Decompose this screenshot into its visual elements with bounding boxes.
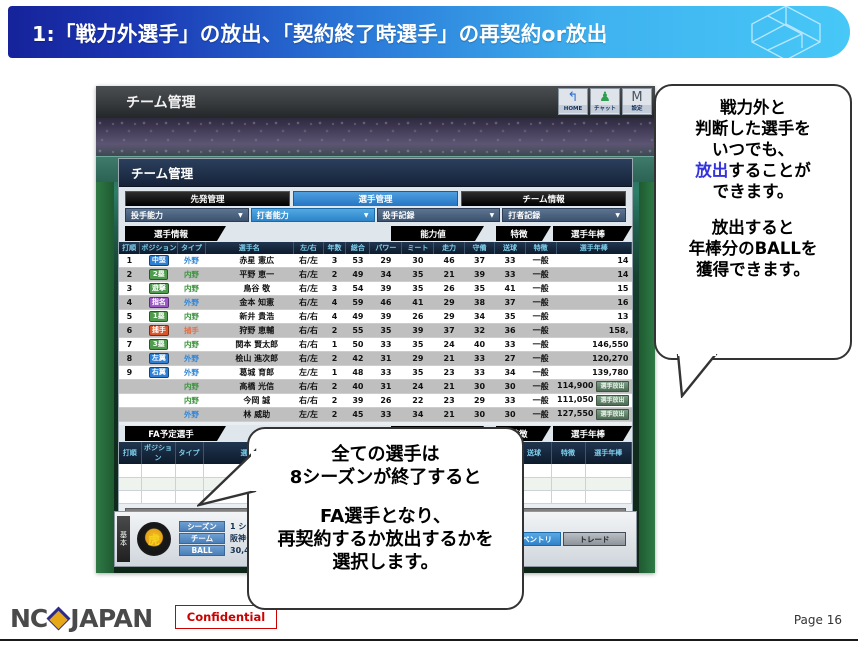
cell-meet: 35: [402, 268, 434, 282]
cell-order: [119, 380, 140, 394]
cell-throw: 33: [495, 254, 525, 268]
cell-years: 2: [323, 408, 346, 422]
cell-total: 40: [346, 380, 370, 394]
cell-power: 33: [370, 408, 402, 422]
position-badge: 右翼: [149, 367, 169, 378]
cell-years: 2: [323, 394, 346, 408]
release-player-button[interactable]: 選手放出: [596, 381, 628, 392]
roster-body: 1中堅外野赤星 憲広右/左3532930463733一般1422塁内野平野 恵一…: [119, 254, 632, 422]
cell-salary: 15: [556, 282, 631, 296]
cell-type: 外野: [178, 352, 205, 366]
cell-salary: 139,780: [556, 366, 631, 380]
team-logo: [137, 522, 171, 556]
position-badge: 1塁: [149, 311, 168, 322]
cell-meet: 35: [402, 282, 434, 296]
col-run: 走力: [434, 242, 464, 254]
chevron-down-icon: ▼: [490, 212, 495, 219]
fa-col-order: 打順: [119, 442, 141, 464]
salary-value: 15: [617, 284, 628, 293]
cell-type: 外野: [178, 408, 205, 422]
season-key: シーズン: [179, 521, 225, 532]
cell-years: 1: [323, 338, 346, 352]
table-row[interactable]: 9右翼外野葛城 育郎左/左1483335233334一般139,780: [119, 366, 632, 380]
page-number: Page 16: [794, 613, 842, 627]
cell-type: 内野: [178, 268, 205, 282]
home-label: HOME: [559, 105, 587, 113]
cell-meet: 29: [402, 352, 434, 366]
cell-hand: 右/右: [294, 394, 324, 408]
cell-throw: 41: [495, 282, 525, 296]
table-row[interactable]: 51塁内野新井 貴浩右/右4493926293435一般13: [119, 310, 632, 324]
tab-starters[interactable]: 先発管理: [125, 191, 290, 206]
callout-right-line-7: 年棒分のBALLを: [662, 238, 844, 259]
salary-value: 13: [617, 312, 628, 321]
salary-value: 14: [617, 256, 628, 265]
position-badge: 左翼: [149, 353, 169, 364]
cell-run: 21: [434, 352, 464, 366]
cell-field: 30: [464, 380, 494, 394]
callout-right-spacer: [662, 203, 844, 217]
cell-trait: 一般: [525, 394, 556, 408]
cell-hand: 右/左: [294, 268, 324, 282]
cell-run: 21: [434, 268, 464, 282]
chevron-down-icon: ▼: [364, 212, 369, 219]
cell-trait: 一般: [525, 324, 556, 338]
cell-salary: 13: [556, 310, 631, 324]
cell-hand: 右/右: [294, 310, 324, 324]
cell-run: 29: [434, 296, 464, 310]
cell-position: 中堅: [140, 254, 178, 268]
settings-button[interactable]: M 設定: [622, 88, 652, 115]
cell-total: 54: [346, 282, 370, 296]
table-row[interactable]: 外野林 威助左/左2453334213030一般127,550選手放出: [119, 408, 632, 422]
cell-order: 9: [119, 366, 140, 380]
release-player-button[interactable]: 選手放出: [596, 395, 628, 406]
table-row[interactable]: 6捕手捕手狩野 恵輔右/右2553539373236一般158,: [119, 324, 632, 338]
crowd-texture: [96, 118, 655, 158]
main-tabs: 先発管理 選手管理 チーム情報: [119, 187, 632, 206]
sub-tabs: 投手能力 ▼ 打者能力 ▼ 投手記録 ▼ 打者記録 ▼: [119, 206, 632, 225]
section-salary: 選手年棒: [553, 226, 623, 241]
cell-position: 1塁: [140, 310, 178, 324]
cell-throw: 34: [495, 366, 525, 380]
cell-hand: 右/左: [294, 282, 324, 296]
callout-right-line-2: 判断した選手を: [662, 118, 844, 139]
cell-order: 7: [119, 338, 140, 352]
cell-hand: 右/右: [294, 380, 324, 394]
cell-type: 外野: [178, 254, 205, 268]
chat-label: チャット: [591, 105, 619, 113]
cell-total: 53: [346, 254, 370, 268]
cell-hand: 右/右: [294, 324, 324, 338]
cell-order: 3: [119, 282, 140, 296]
cell-salary: 14: [556, 254, 631, 268]
top-icon-group: ↰ HOME ♟ チャット M 設定: [558, 88, 652, 115]
cell-power: 33: [370, 338, 402, 352]
callout-right-tail: [676, 354, 732, 398]
section-fa-players: FA予定選手: [125, 426, 217, 441]
col-name: 選手名: [205, 242, 294, 254]
cell-salary: 114,900選手放出: [556, 380, 631, 394]
callout-fa-explanation: 全ての選手は 8シーズンが終了すると FA選手となり、 再契約するか放出するかを…: [247, 427, 524, 610]
game-window-titlebar: チーム管理 ↰ HOME ♟ チャット M 設定: [96, 86, 655, 118]
cell-trait: 一般: [525, 338, 556, 352]
cell-meet: 35: [402, 366, 434, 380]
trade-button[interactable]: トレード: [563, 532, 626, 546]
cell-run: 21: [434, 380, 464, 394]
subtab-pitcher-ability[interactable]: 投手能力 ▼: [125, 208, 249, 222]
cell-salary: 14: [556, 268, 631, 282]
col-position: ポジション: [140, 242, 178, 254]
cell-field: 29: [464, 394, 494, 408]
position-badge: 遊撃: [149, 283, 169, 294]
cell-order: 8: [119, 352, 140, 366]
logo-japan-text: JAPAN: [70, 604, 152, 633]
fa-col-trait: 特徴: [551, 442, 585, 464]
callout-right-line-3: いつでも、: [662, 139, 844, 160]
cell-meet: 30: [402, 254, 434, 268]
cell-run: 23: [434, 394, 464, 408]
cell-position: 指名: [140, 296, 178, 310]
nc-japan-logo: NC JAPAN: [10, 604, 153, 633]
callout-right-line-8: 獲得できます。: [662, 259, 844, 280]
cell-throw: 37: [495, 296, 525, 310]
cell-type: 内野: [178, 282, 205, 296]
cell-trait: 一般: [525, 310, 556, 324]
cell-order: [119, 394, 140, 408]
cell-position: [140, 380, 178, 394]
cell-type: 内野: [178, 394, 205, 408]
cell-type: 捕手: [178, 324, 205, 338]
cell-years: 2: [323, 324, 346, 338]
cell-field: 30: [464, 408, 494, 422]
callout-right-line-4: 放出することが: [662, 160, 844, 181]
cell-total: 49: [346, 310, 370, 324]
table-row[interactable]: 8左翼外野桧山 進次郎右/左2423129213327一般120,270: [119, 352, 632, 366]
cell-years: 2: [323, 268, 346, 282]
cell-power: 34: [370, 268, 402, 282]
cell-field: 33: [464, 352, 494, 366]
table-row[interactable]: 内野髙橋 光信右/右2403124213030一般114,900選手放出: [119, 380, 632, 394]
cell-field: 39: [464, 268, 494, 282]
subtab-batter-ability[interactable]: 打者能力 ▼: [251, 208, 375, 222]
fa-empty-cell: [551, 477, 585, 490]
callout-bottom-line-5: 選択します。: [257, 551, 514, 574]
col-trait: 特徴: [525, 242, 556, 254]
cell-name: 関本 賢太郎: [205, 338, 294, 352]
cell-total: 50: [346, 338, 370, 352]
cell-throw: 33: [495, 394, 525, 408]
salary-value: 158,: [609, 326, 629, 335]
subtab-pitcher-ability-label: 投手能力: [131, 210, 163, 221]
settings-icon: M: [631, 89, 642, 105]
cell-hand: 右/左: [294, 254, 324, 268]
cell-run: 37: [434, 324, 464, 338]
cell-salary: 146,550: [556, 338, 631, 352]
cell-throw: 33: [495, 268, 525, 282]
cell-meet: 24: [402, 380, 434, 394]
cell-position: 左翼: [140, 352, 178, 366]
fa-col-salary: 選手年棒: [585, 442, 632, 464]
callout-right-line-1: 戦力外と: [662, 97, 844, 118]
cell-run: 23: [434, 366, 464, 380]
section-label-bar: 選手情報 能力値 特徴 選手年棒: [119, 225, 632, 242]
cell-total: 45: [346, 408, 370, 422]
game-window-title: チーム管理: [126, 92, 196, 112]
cell-hand: 右/左: [294, 296, 324, 310]
cell-field: 38: [464, 296, 494, 310]
fa-empty-cell: [551, 464, 585, 477]
salary-value: 14: [617, 270, 628, 279]
subtab-batter-record[interactable]: 打者記録 ▼: [502, 208, 626, 222]
section-trait: 特徴: [496, 226, 542, 241]
col-years: 年数: [323, 242, 346, 254]
callout-right-line-5: できます。: [662, 181, 844, 202]
callout-release-players: 戦力外と 判断した選手を いつでも、 放出することが できます。 放出すると 年…: [654, 84, 852, 360]
table-row[interactable]: 1中堅外野赤星 憲広右/左3532930463733一般14: [119, 254, 632, 268]
cell-order: [119, 408, 140, 422]
cell-name: 金本 知憲: [205, 296, 294, 310]
cell-throw: 33: [495, 338, 525, 352]
ball-key: BALL: [179, 545, 225, 556]
cell-order: 2: [119, 268, 140, 282]
cell-meet: 34: [402, 408, 434, 422]
cell-trait: 一般: [525, 366, 556, 380]
cell-position: 右翼: [140, 366, 178, 380]
fa-empty-cell: [585, 477, 632, 490]
fa-empty-cell: [551, 490, 585, 503]
cell-trait: 一般: [525, 282, 556, 296]
cell-position: 遊撃: [140, 282, 178, 296]
cell-power: 31: [370, 380, 402, 394]
cell-position: 2塁: [140, 268, 178, 282]
cell-hand: 左/左: [294, 408, 324, 422]
cell-total: 39: [346, 394, 370, 408]
cell-hand: 右/左: [294, 352, 324, 366]
cell-throw: 27: [495, 352, 525, 366]
callout-highlight-word: 放出: [695, 161, 728, 180]
cell-power: 39: [370, 282, 402, 296]
callout-right-line-6: 放出すると: [662, 217, 844, 238]
col-type: タイプ: [178, 242, 205, 254]
fa-empty-cell: [119, 490, 141, 503]
table-row[interactable]: 73塁内野関本 賢太郎右/右1503335244033一般146,550: [119, 338, 632, 352]
cell-salary: 127,550選手放出: [556, 408, 631, 422]
position-badge: 2塁: [149, 269, 168, 280]
release-player-button[interactable]: 選手放出: [596, 409, 628, 420]
fa-empty-cell: [141, 464, 175, 477]
cell-hand: 右/右: [294, 338, 324, 352]
fa-empty-cell: [119, 464, 141, 477]
cell-run: 21: [434, 408, 464, 422]
footer-divider: [0, 639, 858, 641]
cell-trait: 一般: [525, 254, 556, 268]
cell-field: 33: [464, 366, 494, 380]
cell-years: 1: [323, 366, 346, 380]
cell-position: [140, 408, 178, 422]
cell-trait: 一般: [525, 268, 556, 282]
cell-years: 2: [323, 352, 346, 366]
cell-salary: 120,270: [556, 352, 631, 366]
cell-name: 林 威助: [205, 408, 294, 422]
cell-power: 39: [370, 310, 402, 324]
col-power: パワー: [370, 242, 402, 254]
cell-years: 4: [323, 296, 346, 310]
col-meet: ミート: [402, 242, 434, 254]
cell-trait: 一般: [525, 352, 556, 366]
salary-value: 139,780: [592, 368, 628, 377]
cell-power: 29: [370, 254, 402, 268]
section-fa-salary: 選手年棒: [553, 426, 623, 441]
cell-type: 外野: [178, 296, 205, 310]
cell-name: 平野 恵一: [205, 268, 294, 282]
tab-players[interactable]: 選手管理: [293, 191, 458, 206]
fa-empty-cell: [141, 477, 175, 490]
cell-salary: 158,: [556, 324, 631, 338]
callout-bottom-line-1: 全ての選手は: [257, 443, 514, 466]
fa-empty-cell: [141, 490, 175, 503]
cell-trait: 一般: [525, 296, 556, 310]
cell-meet: 39: [402, 324, 434, 338]
cell-type: 内野: [178, 310, 205, 324]
fa-empty-cell: [585, 490, 632, 503]
cell-total: 59: [346, 296, 370, 310]
cell-position: 3塁: [140, 338, 178, 352]
salary-value: 111,050: [557, 395, 593, 404]
cell-run: 29: [434, 310, 464, 324]
cell-hand: 左/左: [294, 366, 324, 380]
cell-power: 31: [370, 352, 402, 366]
cell-field: 40: [464, 338, 494, 352]
logo-diamond-icon: [47, 606, 71, 630]
col-throw: 送球: [495, 242, 525, 254]
cell-throw: 35: [495, 310, 525, 324]
cell-position: 捕手: [140, 324, 178, 338]
home-button[interactable]: ↰ HOME: [558, 88, 588, 115]
team-key: チーム: [179, 533, 225, 544]
isometric-cube-decoration: [728, 6, 844, 58]
cell-years: 3: [323, 282, 346, 296]
callout-right-after-highlight: することが: [728, 161, 811, 180]
salary-value: 16: [617, 298, 628, 307]
table-row[interactable]: 22塁内野平野 恵一右/左2493435213933一般14: [119, 268, 632, 282]
cell-name: 今岡 誠: [205, 394, 294, 408]
col-order: 打順: [119, 242, 140, 254]
salary-value: 120,270: [592, 354, 628, 363]
basic-tab[interactable]: 基本: [117, 516, 130, 562]
fa-empty-cell: [585, 464, 632, 477]
position-badge: 捕手: [149, 325, 169, 336]
cell-salary: 111,050選手放出: [556, 394, 631, 408]
col-field: 守備: [464, 242, 494, 254]
cell-field: 37: [464, 254, 494, 268]
cell-name: 狩野 恵輔: [205, 324, 294, 338]
chevron-down-icon: ▼: [238, 212, 243, 219]
field-right-edge: [639, 182, 655, 573]
cell-years: 4: [323, 310, 346, 324]
salary-value: 127,550: [557, 409, 593, 418]
panel-title: チーム管理: [119, 159, 632, 187]
cell-position: [140, 394, 178, 408]
cell-name: 髙橋 光信: [205, 380, 294, 394]
logo-nc-text: NC: [10, 604, 47, 633]
table-row[interactable]: 4指名外野金本 知憲右/左4594641293837一般16: [119, 296, 632, 310]
chat-button[interactable]: ♟ チャット: [590, 88, 620, 115]
subtab-pitcher-record-label: 投手記録: [383, 210, 415, 221]
cell-name: 葛城 育郎: [205, 366, 294, 380]
cell-name: 赤星 憲広: [205, 254, 294, 268]
cell-power: 35: [370, 324, 402, 338]
cell-meet: 35: [402, 338, 434, 352]
roster-table: 打順 ポジション タイプ 選手名 左/右 年数 総合 パワー ミート 走力 守備…: [119, 242, 632, 422]
cell-order: 6: [119, 324, 140, 338]
callout-bottom-line-2: 8シーズンが終了すると: [257, 466, 514, 489]
cell-field: 34: [464, 310, 494, 324]
callout-bottom-tail: [197, 447, 257, 507]
salary-value: 114,900: [557, 381, 593, 390]
cell-throw: 30: [495, 408, 525, 422]
field-left-edge: [96, 182, 114, 573]
table-row[interactable]: 内野今岡 誠右/右2392622232933一般111,050選手放出: [119, 394, 632, 408]
cell-years: 2: [323, 380, 346, 394]
roster-header-row: 打順 ポジション タイプ 選手名 左/右 年数 総合 パワー ミート 走力 守備…: [119, 242, 632, 254]
home-icon: ↰: [568, 89, 579, 105]
callout-bottom-line-4: 再契約するか放出するかを: [257, 528, 514, 551]
cell-run: 26: [434, 282, 464, 296]
callout-bottom-spacer: [257, 489, 514, 505]
cell-run: 24: [434, 338, 464, 352]
cell-throw: 36: [495, 324, 525, 338]
cell-salary: 16: [556, 296, 631, 310]
cell-trait: 一般: [525, 380, 556, 394]
position-badge: 3塁: [149, 339, 168, 350]
cell-order: 5: [119, 310, 140, 324]
callout-bottom-line-3: FA選手となり、: [257, 505, 514, 528]
cell-meet: 22: [402, 394, 434, 408]
slide-title-banner: 1:「戦力外選手」の放出、「契約終了時選手」の再契約or放出: [8, 6, 850, 58]
settings-label: 設定: [623, 105, 651, 113]
cell-total: 48: [346, 366, 370, 380]
cell-name: 桧山 進次郎: [205, 352, 294, 366]
cell-power: 26: [370, 394, 402, 408]
cell-power: 46: [370, 296, 402, 310]
section-ability: 能力値: [391, 226, 475, 241]
position-badge: 指名: [149, 297, 169, 308]
cell-total: 42: [346, 352, 370, 366]
tab-team-info[interactable]: チーム情報: [461, 191, 626, 206]
table-row[interactable]: 3遊撃内野鳥谷 敬右/左3543935263541一般15: [119, 282, 632, 296]
page-title: 1:「戦力外選手」の放出、「契約終了時選手」の再契約or放出: [32, 17, 607, 47]
section-player-info: 選手情報: [125, 226, 217, 241]
cell-power: 33: [370, 366, 402, 380]
cell-type: 内野: [178, 338, 205, 352]
cell-name: 新井 貴浩: [205, 310, 294, 324]
cell-order: 4: [119, 296, 140, 310]
subtab-batter-record-label: 打者記録: [508, 210, 540, 221]
position-badge: 中堅: [149, 255, 169, 266]
fa-empty-cell: [119, 477, 141, 490]
cell-type: 内野: [178, 380, 205, 394]
cell-meet: 41: [402, 296, 434, 310]
fa-col-position: ポジション: [141, 442, 175, 464]
subtab-pitcher-record[interactable]: 投手記録 ▼: [377, 208, 501, 222]
cell-throw: 30: [495, 380, 525, 394]
col-salary: 選手年棒: [556, 242, 631, 254]
cell-total: 49: [346, 268, 370, 282]
cell-type: 外野: [178, 366, 205, 380]
cell-field: 32: [464, 324, 494, 338]
chevron-down-icon: ▼: [615, 212, 620, 219]
